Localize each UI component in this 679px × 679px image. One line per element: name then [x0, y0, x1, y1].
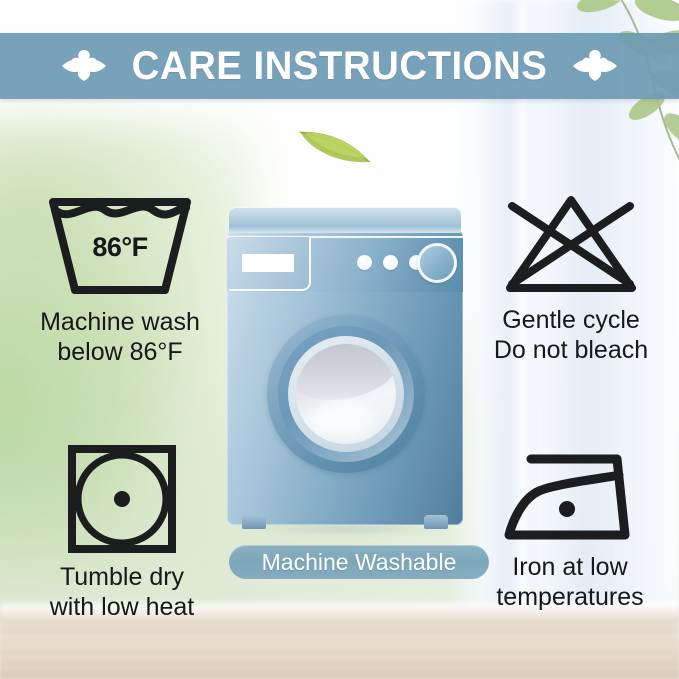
page-title: CARE INSTRUCTIONS	[132, 46, 548, 86]
care-symbol-iron-low: Iron at low temperatures	[464, 443, 676, 612]
care-instructions-infographic: CARE INSTRUCTIONS 86°F Machine wash belo	[0, 0, 679, 679]
care-symbol-gentle-cycle-no-bleach: Gentle cycle Do not bleach	[466, 192, 676, 365]
machine-door-highlight	[310, 400, 376, 438]
care-symbol-machine-wash: 86°F Machine wash below 86°F	[12, 192, 228, 367]
background-table-grain	[0, 617, 679, 679]
crossed-triangle-icon	[496, 192, 646, 296]
machine-door-swirl	[296, 344, 396, 400]
machine-door-glass	[296, 344, 396, 444]
machine-drawer-slot	[242, 254, 294, 272]
care-symbol-label-iron-low: Iron at low temperatures	[496, 553, 643, 612]
care-symbol-label-gentle-cycle-no-bleach: Gentle cycle Do not bleach	[494, 306, 648, 365]
care-symbol-tumble-dry: Tumble dry with low heat	[14, 443, 230, 622]
machine-detergent-drawer	[229, 237, 311, 291]
iron-low-icon	[495, 443, 645, 547]
fleur-de-lis-icon-right	[572, 43, 618, 89]
header-banner: CARE INSTRUCTIONS	[0, 33, 679, 99]
care-symbol-label-machine-wash: Machine wash below 86°F	[40, 308, 200, 367]
machine-program-knob	[417, 243, 457, 283]
machine-foot-left	[242, 515, 266, 529]
machine-indicator-light	[383, 255, 398, 270]
machine-indicator-lights	[357, 255, 424, 270]
tumble-dry-low-icon	[66, 443, 178, 555]
care-symbol-label-tumble-dry: Tumble dry with low heat	[50, 563, 195, 622]
machine-indicator-light	[357, 255, 372, 270]
wash-temperature-value: 86°F	[45, 232, 195, 263]
leaf-icon	[296, 120, 374, 166]
wash-tub-icon: 86°F	[45, 192, 195, 300]
machine-foot-right	[424, 515, 448, 529]
machine-top-lid	[229, 207, 461, 233]
machine-washable-badge: Machine Washable	[229, 545, 489, 579]
washing-machine-illustration	[227, 207, 463, 527]
machine-washable-badge-label: Machine Washable	[262, 551, 457, 574]
fleur-de-lis-icon-left	[61, 43, 107, 89]
machine-door-ring-outer	[278, 326, 414, 462]
machine-door-ring-inner	[288, 336, 404, 452]
machine-door	[267, 315, 425, 473]
